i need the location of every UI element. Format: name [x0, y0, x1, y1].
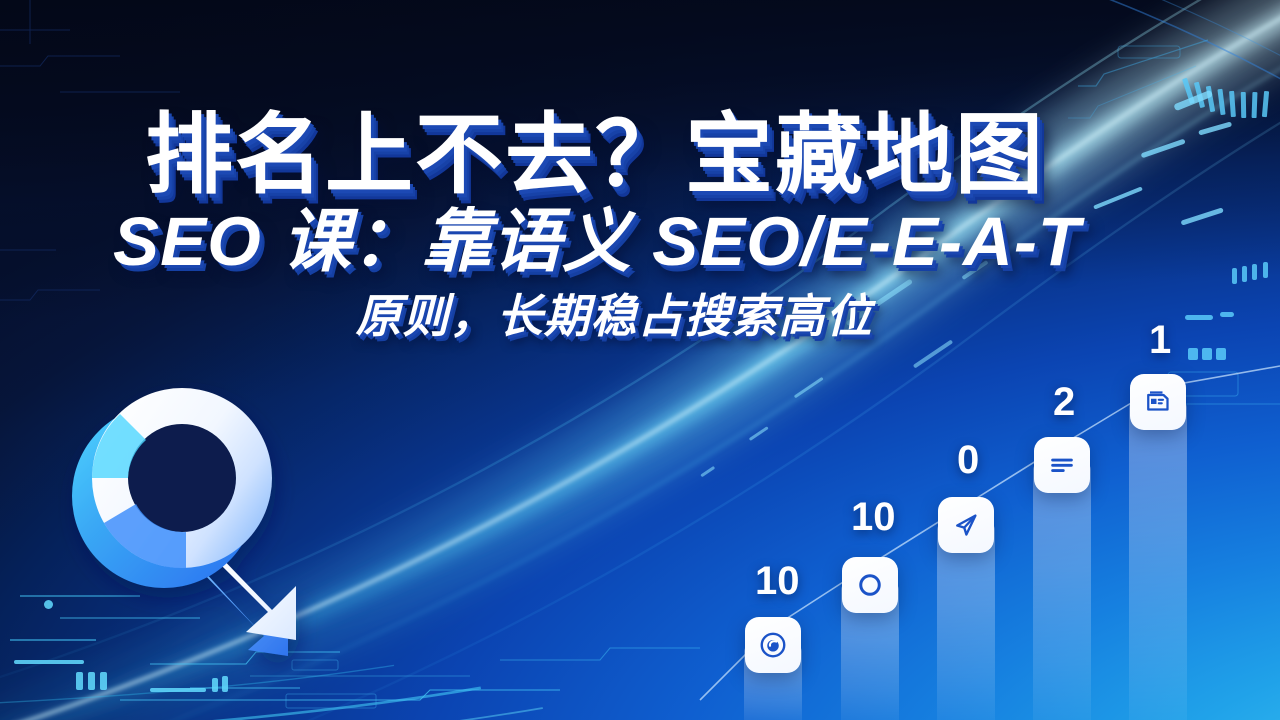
- chart-bar: [1033, 462, 1091, 720]
- headline-line-3: 原则，长期稳占搜索高位: [4, 292, 1180, 342]
- headline-line-2: SEO 课：靠语义 SEO/E-E-A-T: [4, 206, 1180, 278]
- text-lines-icon-tile[interactable]: [1034, 437, 1090, 493]
- poster-headline-group: 排名上不去？宝藏地图 SEO 课：靠语义 SEO/E-E-A-T 原则，长期稳占…: [0, 110, 1180, 342]
- paper-plane-icon: [951, 510, 981, 540]
- headline-line-1: 排名上不去？宝藏地图: [4, 110, 1180, 200]
- bar-data-label: 2: [1053, 382, 1075, 422]
- document-card-icon-tile[interactable]: [1130, 374, 1186, 430]
- paper-plane-icon-tile[interactable]: [938, 497, 994, 553]
- spiral-eye-icon: [758, 630, 788, 660]
- document-card-icon: [1143, 387, 1173, 417]
- bar-data-label: 0: [957, 440, 979, 480]
- seo-course-poster: 10 10 0 2 1 排名上不去？宝藏地图 SEO 课：靠语义 SEO/E-E…: [0, 0, 1280, 720]
- spiral-eye-icon-tile[interactable]: [745, 617, 801, 673]
- bar-data-label: 10: [755, 561, 800, 601]
- ring-circle-icon: [855, 570, 885, 600]
- text-lines-icon: [1047, 450, 1077, 480]
- chart-bar: [1129, 400, 1187, 720]
- ring-circle-icon-tile[interactable]: [842, 557, 898, 613]
- bar-data-label: 10: [851, 497, 896, 537]
